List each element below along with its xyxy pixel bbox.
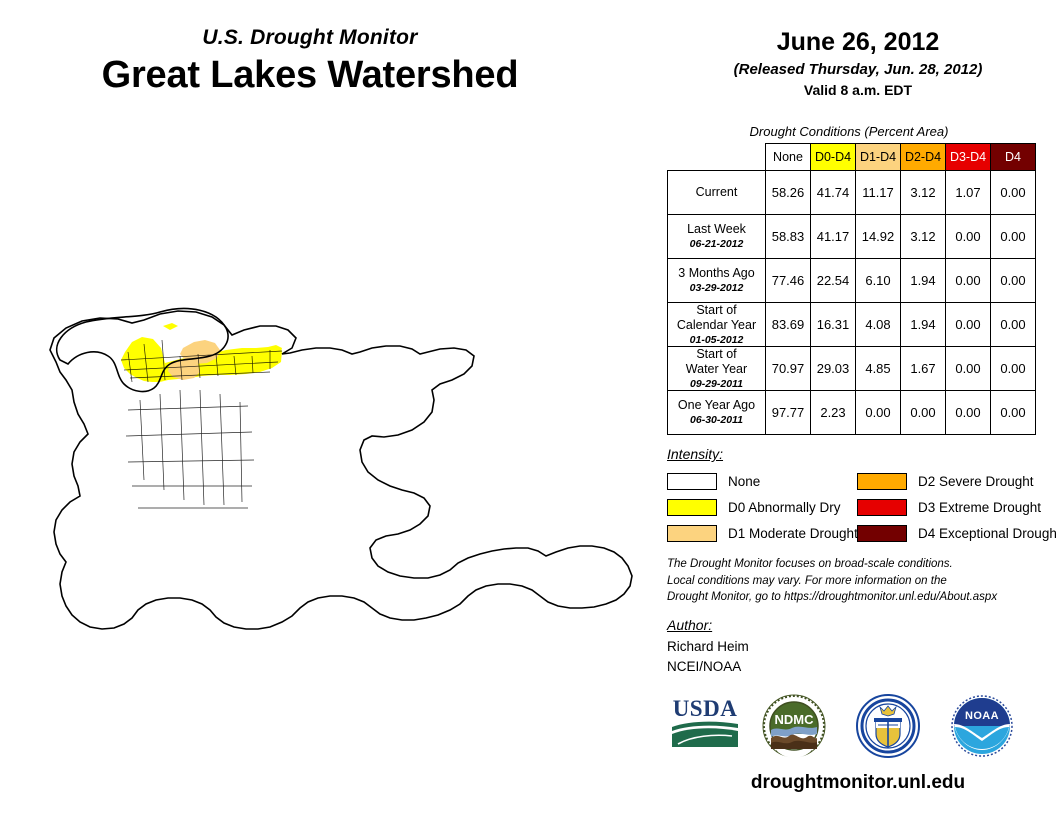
cell-d2-d4: 1.67 [901, 347, 946, 391]
legend-label: D3 Extreme Drought [918, 500, 1041, 515]
cell-d4: 0.00 [991, 215, 1036, 259]
legend-item: D2 Severe Drought [857, 468, 1056, 494]
author-name: Richard Heim [667, 637, 749, 657]
cell-d1-d4: 4.08 [856, 303, 901, 347]
ndmc-logo[interactable]: NDMC [762, 694, 826, 763]
cell-none: 97.77 [766, 391, 811, 435]
map-layer-d1 [132, 340, 412, 630]
cell-d3-d4: 1.07 [946, 171, 991, 215]
column-header-d3-d4: D3-D4 [946, 144, 991, 171]
cell-d4: 0.00 [991, 259, 1036, 303]
row-date: 09-29-2011 [668, 378, 765, 390]
usdc-logo[interactable] [856, 694, 920, 763]
drought-map[interactable] [20, 290, 650, 630]
cell-d1-d4: 11.17 [856, 171, 901, 215]
column-header-d0-d4: D0-D4 [811, 144, 856, 171]
legend-swatch-icon [857, 499, 907, 516]
legend-item: D0 Abnormally Dry [667, 494, 858, 520]
table-row: 3 Months Ago03-29-201277.4622.546.101.94… [668, 259, 1036, 303]
cell-d0-d4: 22.54 [811, 259, 856, 303]
cell-d1-d4: 6.10 [856, 259, 901, 303]
table-row: Start ofWater Year09-29-201170.9729.034.… [668, 347, 1036, 391]
legend-swatch-icon [667, 473, 717, 490]
author-heading: Author: [667, 617, 712, 633]
row-date: 03-29-2012 [668, 282, 765, 294]
table-row: One Year Ago06-30-201197.772.230.000.000… [668, 391, 1036, 435]
legend-column-left: NoneD0 Abnormally DryD1 Moderate Drought [667, 468, 858, 546]
cell-d2-d4: 1.94 [901, 303, 946, 347]
column-header-none: None [766, 144, 811, 171]
cell-none: 58.83 [766, 215, 811, 259]
author-block: Richard Heim NCEI/NOAA [667, 637, 749, 678]
drought-conditions-table: None D0-D4 D1-D4 D2-D4 D3-D4 D4 Current5… [667, 143, 1036, 435]
site-url[interactable]: droughtmonitor.unl.edu [660, 772, 1056, 794]
svg-text:USDA: USDA [673, 696, 738, 721]
cell-d0-d4: 41.17 [811, 215, 856, 259]
disclaimer-line-2: Local conditions may vary. For more info… [667, 573, 1056, 590]
table-row: Start ofCalendar Year01-05-201283.6916.3… [668, 303, 1036, 347]
left-panel: U.S. Drought Monitor Great Lakes Watersh… [0, 0, 660, 816]
logo-row: USDA NDMC [660, 694, 1056, 774]
cell-d4: 0.00 [991, 347, 1036, 391]
cell-d1-d4: 14.92 [856, 215, 901, 259]
cell-d2-d4: 3.12 [901, 171, 946, 215]
cell-d4: 0.00 [991, 303, 1036, 347]
row-label: One Year Ago06-30-2011 [668, 391, 766, 435]
legend-item: D4 Exceptional Drought [857, 520, 1056, 546]
svg-text:NOAA: NOAA [965, 710, 999, 722]
legend-label: None [728, 474, 760, 489]
cell-none: 70.97 [766, 347, 811, 391]
row-label: Current [668, 171, 766, 215]
cell-d3-d4: 0.00 [946, 391, 991, 435]
legend-swatch-icon [857, 473, 907, 490]
table-row: Last Week06-21-201258.8341.1714.923.120.… [668, 215, 1036, 259]
cell-none: 58.26 [766, 171, 811, 215]
row-label: Start ofCalendar Year01-05-2012 [668, 303, 766, 347]
cell-d2-d4: 3.12 [901, 215, 946, 259]
row-label: Last Week06-21-2012 [668, 215, 766, 259]
cell-d0-d4: 41.74 [811, 171, 856, 215]
legend-swatch-icon [667, 499, 717, 516]
row-label: 3 Months Ago03-29-2012 [668, 259, 766, 303]
cell-d2-d4: 1.94 [901, 259, 946, 303]
map-county-lines [121, 340, 632, 630]
cell-d2-d4: 0.00 [901, 391, 946, 435]
report-date: June 26, 2012 [660, 28, 1056, 57]
cell-none: 83.69 [766, 303, 811, 347]
disclaimer-text: The Drought Monitor focuses on broad-sca… [667, 556, 1056, 606]
valid-time: Valid 8 a.m. EDT [660, 82, 1056, 98]
cell-d1-d4: 4.85 [856, 347, 901, 391]
cell-d3-d4: 0.00 [946, 259, 991, 303]
map-layer-d0 [84, 323, 634, 630]
legend-swatch-icon [857, 525, 907, 542]
row-date: 06-30-2011 [668, 414, 765, 426]
cell-d0-d4: 2.23 [811, 391, 856, 435]
legend-swatch-icon [667, 525, 717, 542]
row-date: 01-05-2012 [668, 334, 765, 346]
legend-column-right: D2 Severe DroughtD3 Extreme DroughtD4 Ex… [857, 468, 1056, 546]
column-header-d4: D4 [991, 144, 1036, 171]
noaa-logo[interactable]: NOAA [950, 694, 1014, 763]
cell-d0-d4: 29.03 [811, 347, 856, 391]
program-subtitle: U.S. Drought Monitor [0, 26, 620, 49]
legend-label: D0 Abnormally Dry [728, 500, 841, 515]
legend-label: D4 Exceptional Drought [918, 526, 1056, 541]
author-affiliation: NCEI/NOAA [667, 657, 749, 677]
cell-d4: 0.00 [991, 171, 1036, 215]
legend-label: D1 Moderate Drought [728, 526, 858, 541]
cell-d3-d4: 0.00 [946, 215, 991, 259]
cell-d4: 0.00 [991, 391, 1036, 435]
cell-d3-d4: 0.00 [946, 347, 991, 391]
title-block: U.S. Drought Monitor Great Lakes Watersh… [0, 26, 620, 98]
page-title: Great Lakes Watershed [0, 54, 620, 98]
right-panel: June 26, 2012 (Released Thursday, Jun. 2… [660, 0, 1056, 816]
table-corner-cell [668, 144, 766, 171]
table-body: Current58.2641.7411.173.121.070.00Last W… [668, 171, 1036, 435]
release-date: (Released Thursday, Jun. 28, 2012) [660, 61, 1056, 78]
svg-text:NDMC: NDMC [775, 712, 815, 727]
legend-item: None [667, 468, 858, 494]
cell-d1-d4: 0.00 [856, 391, 901, 435]
table-row: Current58.2641.7411.173.121.070.00 [668, 171, 1036, 215]
intensity-heading: Intensity: [667, 446, 723, 462]
legend-item: D3 Extreme Drought [857, 494, 1056, 520]
legend-label: D2 Severe Drought [918, 474, 1034, 489]
usda-logo[interactable]: USDA [670, 694, 740, 754]
column-header-d2-d4: D2-D4 [901, 144, 946, 171]
cell-d0-d4: 16.31 [811, 303, 856, 347]
map-svg [20, 290, 650, 630]
legend-item: D1 Moderate Drought [667, 520, 858, 546]
row-label: Start ofWater Year09-29-2011 [668, 347, 766, 391]
table-caption: Drought Conditions (Percent Area) [660, 124, 1038, 139]
cell-none: 77.46 [766, 259, 811, 303]
disclaimer-line-1: The Drought Monitor focuses on broad-sca… [667, 556, 1056, 573]
table-header-row: None D0-D4 D1-D4 D2-D4 D3-D4 D4 [668, 144, 1036, 171]
date-block: June 26, 2012 (Released Thursday, Jun. 2… [660, 28, 1056, 98]
column-header-d1-d4: D1-D4 [856, 144, 901, 171]
disclaimer-line-3: Drought Monitor, go to https://droughtmo… [667, 589, 1056, 606]
row-date: 06-21-2012 [668, 238, 765, 250]
cell-d3-d4: 0.00 [946, 303, 991, 347]
